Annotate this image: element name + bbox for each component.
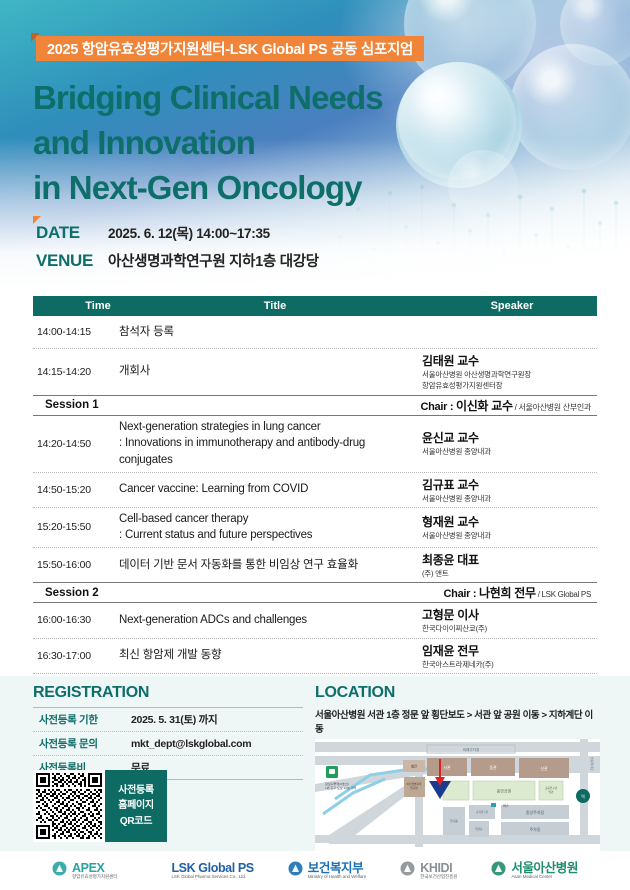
- table-row: 16:00-16:30Next-generation ADCs and chal…: [33, 603, 597, 638]
- chair-name: 이신화 교수: [456, 399, 513, 413]
- logo-subtitle: 한국보건산업진흥원: [420, 875, 457, 880]
- table-row: 14:00-14:15참석자 등록: [33, 316, 597, 349]
- svg-text:별관동: 별관동: [475, 827, 483, 831]
- row-time: 16:30-17:00: [33, 650, 119, 662]
- logo-mark-icon: [151, 861, 166, 881]
- speaker-name: 김규표 교수: [422, 476, 597, 493]
- session-label: Session 2: [33, 587, 135, 599]
- speaker-affiliation: 서울아산병원 종양내과: [422, 493, 597, 504]
- chair-prefix: Chair :: [444, 588, 480, 600]
- title-line-3: in Next-Gen Oncology: [33, 166, 463, 211]
- svg-text:신관: 신관: [540, 765, 548, 771]
- logo-subtitle: Ministry of Health and Welfare: [308, 875, 366, 880]
- qr-code-image[interactable]: [33, 770, 105, 842]
- row-title: 참석자 등록: [119, 324, 422, 341]
- qr-code-block[interactable]: 사전등록 홈페이지 QR코드: [33, 770, 167, 842]
- row-time: 14:15-14:20: [33, 366, 119, 378]
- svg-text:연구동: 연구동: [450, 819, 458, 823]
- date-value: 2025. 6. 12(목) 14:00~17:35: [108, 222, 270, 242]
- location-heading: LOCATION: [315, 684, 600, 702]
- table-row: 14:15-14:20개회사김태원 교수서울아산병원 아산생명과학연구원장항암유…: [33, 349, 597, 395]
- speaker-affiliation: 한국다이이찌산쿄(주): [422, 623, 597, 634]
- footer-logo: LSK Global PSLSK Global Pharma Services …: [151, 861, 253, 881]
- svg-text:올림픽대로: 올림픽대로: [590, 757, 595, 771]
- session-chair: Chair : 나현희 전무 / LSK Global PS: [135, 584, 597, 601]
- speaker-affiliation: 항암유효성평가지원센터장: [422, 380, 597, 391]
- row-title-line1: Cancer vaccine: Learning from COVID: [119, 483, 308, 495]
- registration-row: 사전등록 기한2025. 5. 31(토) 까지: [33, 708, 303, 732]
- location-directions: 서울아산병원 서관 1층 정문 앞 횡단보도 > 서관 앞 공원 이동 > 지하…: [315, 707, 600, 735]
- qr-label-line-2: 홈페이지: [118, 798, 154, 814]
- speaker-affiliation: 서울아산병원 종양내과: [422, 446, 597, 457]
- row-time: 15:20-15:50: [33, 521, 119, 533]
- svg-text:버스: 버스: [503, 803, 509, 808]
- svg-text:주차동: 주차동: [529, 826, 540, 832]
- row-time: 16:00-16:30: [33, 614, 119, 626]
- svg-text:중앙공원: 중앙공원: [497, 788, 512, 794]
- session-label: Session 1: [33, 399, 135, 411]
- event-banner: 2025 항암유효성평가지원센터-LSK Global PS 공동 심포지엄: [36, 36, 424, 61]
- registration-section: REGISTRATION 사전등록 기한2025. 5. 31(토) 까지사전등…: [33, 684, 303, 780]
- row-speaker: 윤신교 교수서울아산병원 종양내과: [422, 429, 597, 457]
- row-title-line1: Next-generation strategies in lung cance…: [119, 421, 320, 433]
- speaker-name: 형재원 교수: [422, 513, 597, 530]
- logo-mark-icon: [52, 861, 67, 881]
- date-venue-block: DATE 2025. 6. 12(목) 14:00~17:35 VENUE 아산…: [36, 222, 456, 278]
- symposium-poster: 2025 항암유효성평가지원센터-LSK Global PS 공동 심포지엄 B…: [0, 0, 630, 890]
- row-speaker: 최종윤 대표(주) 앤트: [422, 551, 597, 579]
- qr-code-label: 사전등록 홈페이지 QR코드: [105, 770, 167, 842]
- location-section: LOCATION 서울아산병원 서관 1층 정문 앞 횡단보도 > 서관 앞 공…: [315, 684, 600, 851]
- row-title-line1: 참석자 등록: [119, 326, 174, 338]
- column-header-title: Title: [163, 300, 427, 312]
- footer-logo: KHIDI한국보건산업진흥원: [400, 861, 457, 881]
- table-row: 15:50-16:00데이터 기반 문서 자동화를 통한 비임상 연구 효율화최…: [33, 548, 597, 582]
- session-header-row: Session 2Chair : 나현희 전무 / LSK Global PS: [33, 582, 597, 603]
- registration-heading: REGISTRATION: [33, 684, 303, 702]
- logo-name: APEX: [72, 862, 117, 875]
- speaker-affiliation: 서울아산병원 종양내과: [422, 530, 597, 541]
- row-title-line1: 데이터 기반 문서 자동화를 통한 비임상 연구 효율화: [119, 559, 358, 571]
- row-title: 최신 항암제 개발 동향: [119, 647, 422, 664]
- column-header-time: Time: [33, 300, 163, 312]
- row-time: 14:20-14:50: [33, 438, 119, 450]
- row-title: Cell-based cancer therapy: Current statu…: [119, 511, 422, 544]
- table-row: 14:20-14:50Next-generation strategies in…: [33, 416, 597, 473]
- logo-subtitle: Asan Medical Center: [511, 875, 578, 880]
- row-speaker: 김규표 교수서울아산병원 종양내과: [422, 476, 597, 504]
- logo-name: 보건복지부: [308, 862, 366, 875]
- logo-name: LSK Global PS: [171, 862, 253, 875]
- speaker-affiliation: (주) 앤트: [422, 568, 597, 579]
- qr-code-svg[interactable]: [36, 773, 102, 839]
- date-corner-accent: [33, 216, 41, 224]
- row-title-line1: 최신 항암제 개발 동향: [119, 649, 221, 661]
- page-title: Bridging Clinical Needs and Innovation i…: [33, 76, 463, 211]
- logo-mark-icon: [491, 861, 506, 881]
- svg-text:아산생명과학: 아산생명과학: [407, 782, 422, 786]
- row-title: 개회사: [119, 363, 422, 380]
- row-speaker: 임재윤 전무한국아스트라제네카(주): [422, 642, 597, 670]
- title-line-1: Bridging Clinical Needs: [33, 76, 463, 121]
- footer-logo: 보건복지부Ministry of Health and Welfare: [288, 861, 366, 881]
- speaker-affiliation: 한국아스트라제네카(주): [422, 659, 597, 670]
- row-time: 14:00-14:15: [33, 326, 119, 338]
- session-header-row: Session 1Chair : 이신화 교수 / 서울아산병원 산부인과: [33, 395, 597, 416]
- qr-label-line-1: 사전등록: [118, 783, 154, 799]
- svg-text:별관: 별관: [549, 790, 554, 794]
- svg-text:1번 출구 도보 10분 거리: 1번 출구 도보 10분 거리: [325, 785, 357, 790]
- row-title: 데이터 기반 문서 자동화를 통한 비임상 연구 효율화: [119, 557, 422, 574]
- row-title-line1: Cell-based cancer therapy: [119, 513, 248, 525]
- registration-key: 사전등록 문의: [33, 736, 131, 751]
- logo-subtitle: 항암유효성평가지원센터: [72, 875, 117, 880]
- table-row: 16:30-17:00최신 항암제 개발 동향임재윤 전무한국아스트라제네카(주…: [33, 639, 597, 674]
- row-title-line2: : Innovations in immunotherapy and antib…: [119, 435, 414, 468]
- svg-text:서관: 서관: [443, 764, 451, 770]
- svg-text:연구원: 연구원: [410, 786, 418, 790]
- registration-value: 2025. 5. 31(토) 까지: [131, 712, 217, 727]
- row-title: Next-generation strategies in lung cance…: [119, 419, 422, 469]
- svg-text:동관: 동관: [489, 764, 497, 770]
- table-row: 14:50-15:20Cancer vaccine: Learning from…: [33, 473, 597, 508]
- logo-name: KHIDI: [420, 862, 457, 875]
- registration-value[interactable]: mkt_dept@lskglobal.com: [131, 738, 251, 750]
- row-title: Next-generation ADCs and challenges: [119, 612, 422, 629]
- date-label: DATE: [36, 223, 108, 243]
- location-map[interactable]: 외래주차장 별관 서관 동관 신관 아산생명과학 연구원 중앙공원 교육연구관 …: [315, 739, 600, 851]
- qr-label-line-3: QR코드: [120, 814, 152, 830]
- row-title-line1: 개회사: [119, 365, 150, 377]
- registration-row: 사전등록 문의mkt_dept@lskglobal.com: [33, 732, 303, 756]
- speaker-affiliation: 서울아산병원 아산생명과학연구원장: [422, 369, 597, 380]
- footer-logo: APEX항암유효성평가지원센터: [52, 861, 117, 881]
- speaker-name: 김태원 교수: [422, 352, 597, 369]
- speaker-name: 고형문 이사: [422, 606, 597, 623]
- venue-row: VENUE 아산생명과학연구원 지하1층 대강당: [36, 250, 456, 271]
- logo-subtitle: LSK Global Pharma Services Co., Ltd.: [171, 875, 253, 880]
- logo-mark-icon: [288, 861, 303, 881]
- speaker-name: 최종윤 대표: [422, 551, 597, 568]
- map-road-bottom: [329, 835, 600, 844]
- svg-text:외래주차장: 외래주차장: [463, 747, 480, 752]
- logo-name: 서울아산병원: [511, 862, 578, 875]
- session-chair: Chair : 이신화 교수 / 서울아산병원 산부인과: [135, 397, 597, 414]
- map-svg[interactable]: 외래주차장 별관 서관 동관 신관 아산생명과학 연구원 중앙공원 교육연구관 …: [315, 739, 600, 851]
- row-speaker: 형재원 교수서울아산병원 종양내과: [422, 513, 597, 541]
- svg-text:중앙주차장: 중앙주차장: [526, 809, 545, 815]
- program-table-header: Time Title Speaker: [33, 296, 597, 316]
- speaker-name: 윤신교 교수: [422, 429, 597, 446]
- footer-logo: 서울아산병원Asan Medical Center: [491, 861, 578, 881]
- registration-key: 사전등록 기한: [33, 712, 131, 727]
- svg-text:별관: 별관: [411, 764, 417, 769]
- row-time: 15:50-16:00: [33, 559, 119, 571]
- row-speaker: 고형문 이사한국다이이찌산쿄(주): [422, 606, 597, 634]
- speaker-name: 임재윤 전무: [422, 642, 597, 659]
- venue-value: 아산생명과학연구원 지하1층 대강당: [108, 250, 319, 271]
- venue-label: VENUE: [36, 251, 108, 271]
- chair-affiliation: / 서울아산병원 산부인과: [513, 403, 591, 412]
- row-title-line1: Next-generation ADCs and challenges: [119, 614, 307, 626]
- footer-logo-bar: APEX항암유효성평가지원센터LSK Global PSLSK Global P…: [0, 851, 630, 890]
- chair-name: 나현희 전무: [479, 586, 536, 600]
- title-line-2: and Innovation: [33, 121, 463, 166]
- date-row: DATE 2025. 6. 12(목) 14:00~17:35: [36, 222, 456, 243]
- row-time: 14:50-15:20: [33, 484, 119, 496]
- row-title: Cancer vaccine: Learning from COVID: [119, 481, 422, 498]
- column-header-speaker: Speaker: [427, 300, 597, 312]
- svg-text:교육연구관: 교육연구관: [545, 786, 558, 790]
- row-title-line2: : Current status and future perspectives: [119, 527, 414, 544]
- map-road-top: [315, 742, 600, 752]
- row-speaker: 김태원 교수서울아산병원 아산생명과학연구원장항암유효성평가지원센터장: [422, 352, 597, 392]
- svg-text:교육연구관: 교육연구관: [476, 810, 489, 814]
- svg-text:역: 역: [581, 793, 585, 799]
- logo-mark-icon: [400, 861, 415, 881]
- table-row: 15:20-15:50Cell-based cancer therapy: Cu…: [33, 508, 597, 548]
- chair-affiliation: / LSK Global PS: [536, 590, 591, 599]
- chair-prefix: Chair :: [420, 401, 456, 413]
